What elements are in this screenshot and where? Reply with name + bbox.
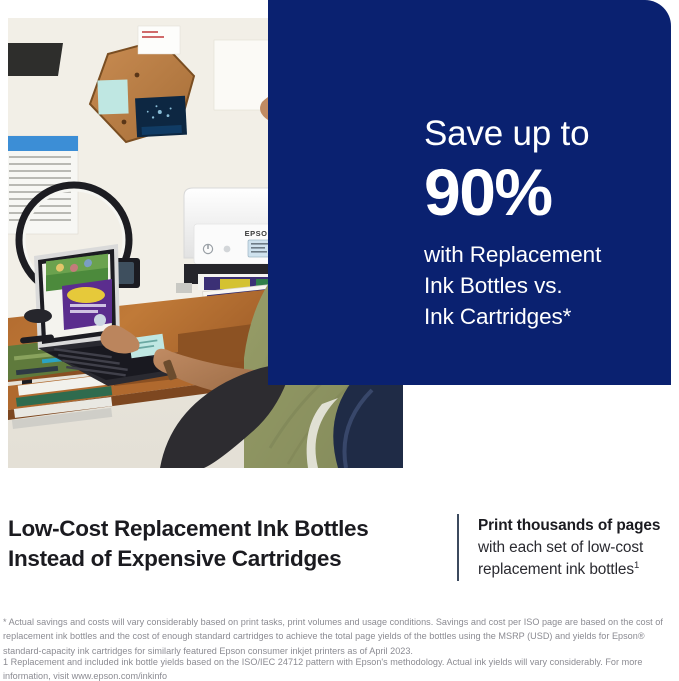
- pages-callout-heading: Print thousands of pages: [478, 515, 673, 537]
- vertical-divider: [457, 514, 459, 581]
- promo-subtext-line-3: Ink Cartridges*: [424, 302, 674, 333]
- promo-subtext-line-2: Ink Bottles vs.: [424, 271, 674, 302]
- promo-subtext-line-1: with Replacement: [424, 240, 674, 271]
- save-up-to-text: Save up to: [424, 116, 674, 151]
- headline-line-1: Low-Cost Replacement Ink Bottles: [8, 514, 438, 544]
- footnote-one: 1 Replacement and included ink bottle yi…: [3, 655, 675, 681]
- promo-subtext: with Replacement Ink Bottles vs. Ink Car…: [424, 240, 674, 332]
- footnote-marker: 1: [634, 560, 639, 571]
- promo-copy: Save up to 90% with Replacement Ink Bott…: [424, 116, 674, 332]
- footnote-asterisk: * Actual savings and costs will vary con…: [3, 615, 675, 658]
- promo-panel: Save up to 90% with Replacement Ink Bott…: [268, 0, 671, 385]
- pages-callout-line-2-text: replacement ink bottles: [478, 561, 634, 578]
- promo-banner: EPSON: [0, 0, 679, 681]
- pages-callout: Print thousands of pages with each set o…: [478, 515, 673, 582]
- headline-line-2: Instead of Expensive Cartridges: [8, 544, 438, 574]
- pages-callout-line-1: with each set of low-cost: [478, 537, 673, 559]
- percent-savings: 90%: [424, 159, 674, 226]
- pages-callout-line-2: replacement ink bottles1: [478, 559, 673, 581]
- headline: Low-Cost Replacement Ink Bottles Instead…: [8, 514, 438, 574]
